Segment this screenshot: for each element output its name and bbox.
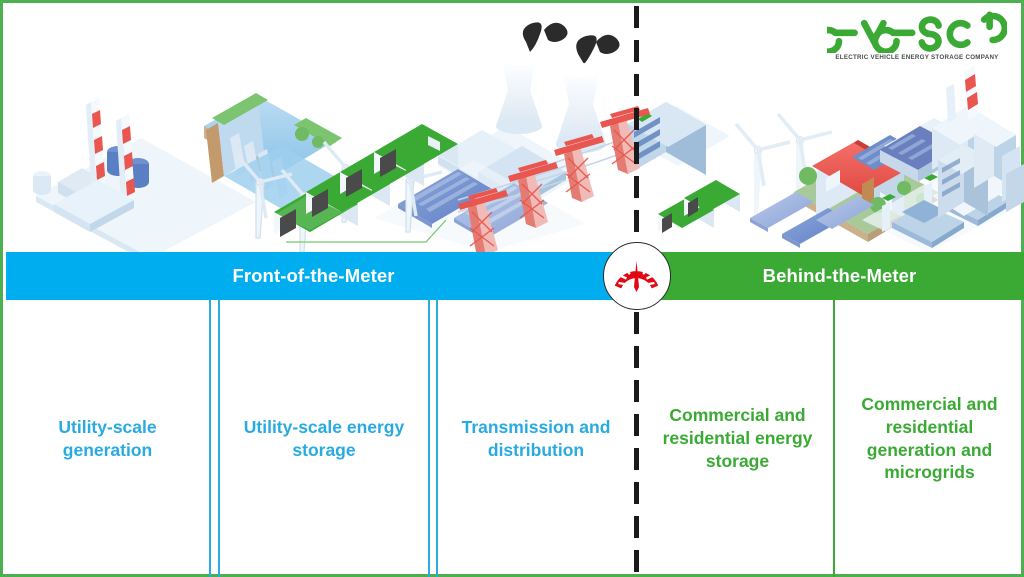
- column-divider-1a: [209, 300, 211, 577]
- column-label: Utility-scale generation: [6, 416, 209, 462]
- column-divider-2a: [428, 300, 430, 577]
- evesco-logo: ELECTRIC VEHICLE ENERGY STORAGE COMPANY: [827, 9, 1007, 61]
- column-utility-scale-energy-storage: Utility-scale energy storage: [220, 300, 428, 577]
- evesco-wordmark-icon: [827, 9, 1007, 53]
- speedometer-icon: [603, 242, 671, 310]
- column-utility-scale-generation: Utility-scale generation: [6, 300, 209, 577]
- column-label: Transmission and distribution: [438, 416, 634, 462]
- column-commercial-residential-storage: Commercial and residential energy storag…: [642, 300, 833, 577]
- infographic-root: ELECTRIC VEHICLE ENERGY STORAGE COMPANY …: [0, 0, 1024, 577]
- banner-front-of-the-meter: Front-of-the-Meter: [6, 252, 637, 300]
- banner-behind-the-meter: Behind-the-Meter: [637, 252, 1024, 300]
- column-label: Commercial and residential energy storag…: [642, 404, 833, 472]
- banner-front-of-the-meter-label: Front-of-the-Meter: [232, 265, 394, 287]
- column-label: Commercial and residential generation an…: [835, 393, 1024, 484]
- column-transmission-and-distribution: Transmission and distribution: [438, 300, 634, 577]
- logo-tagline: ELECTRIC VEHICLE ENERGY STORAGE COMPANY: [827, 54, 1007, 61]
- banner-behind-the-meter-label: Behind-the-Meter: [763, 265, 917, 287]
- column-label: Utility-scale energy storage: [220, 416, 428, 462]
- column-commercial-residential-generation: Commercial and residential generation an…: [835, 300, 1024, 577]
- battery-container-icon: [658, 180, 740, 233]
- category-columns: Utility-scale generation Utility-scale e…: [6, 300, 1024, 577]
